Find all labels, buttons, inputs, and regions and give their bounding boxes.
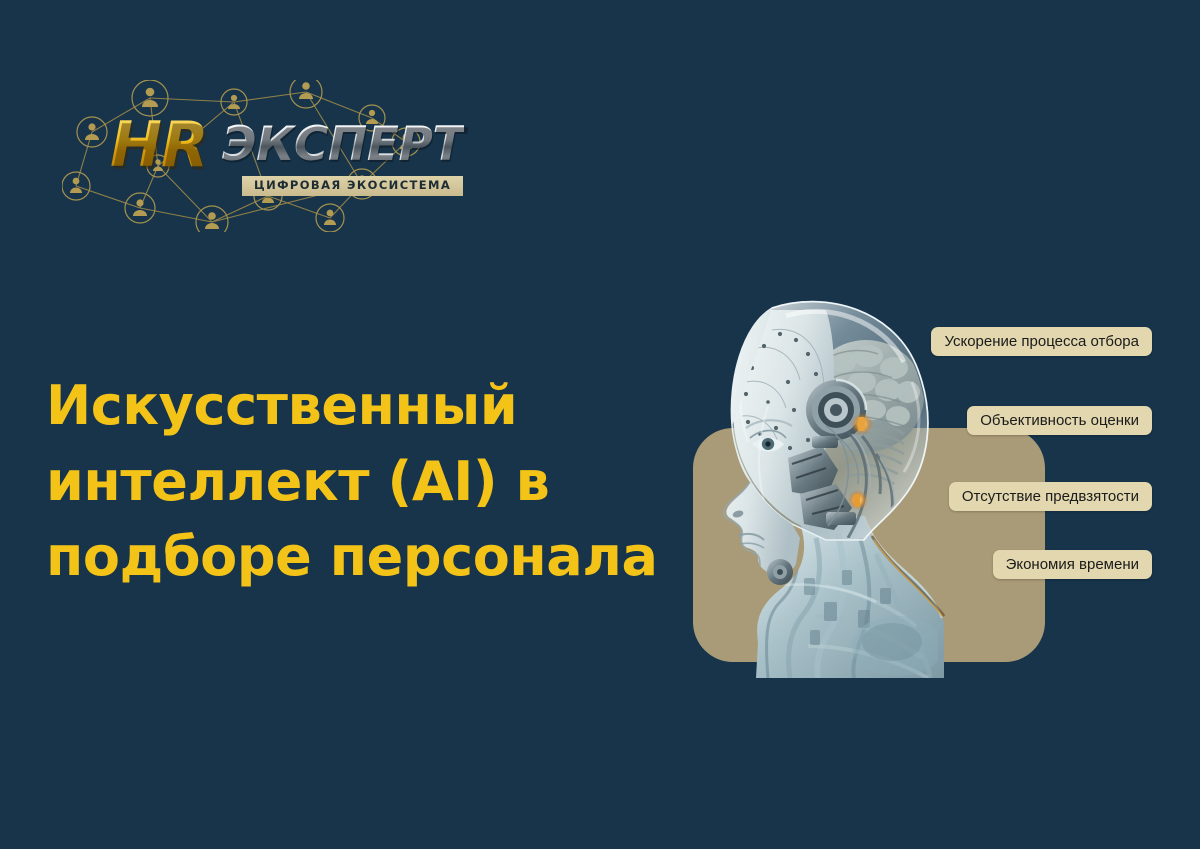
- benefit-badge-0[interactable]: Ускорение процесса отбора: [931, 327, 1152, 356]
- benefit-label: Экономия времени: [1006, 557, 1139, 572]
- benefit-badge-2[interactable]: Отсутствие предвзятости: [949, 482, 1152, 511]
- benefit-badge-3[interactable]: Экономия времени: [993, 550, 1152, 579]
- headline-line-3: подборе персонала: [46, 519, 686, 595]
- page-title: Искусственный интеллект (AI) в подборе п…: [46, 368, 686, 595]
- brand-logo[interactable]: ЭКСПЕРТ HR ЦИФРОВАЯ ЭКОСИСТЕМА: [62, 80, 442, 232]
- logo-expert-text: ЭКСПЕРТ: [222, 121, 464, 168]
- logo-tagline: ЦИФРОВАЯ ЭКОСИСТЕМА: [242, 176, 463, 196]
- benefit-label: Объективность оценки: [980, 413, 1139, 428]
- headline-line-1: Искусственный: [46, 368, 686, 444]
- benefit-badge-1[interactable]: Объективность оценки: [967, 406, 1152, 435]
- benefit-label: Ускорение процесса отбора: [944, 334, 1139, 349]
- benefit-label: Отсутствие предвзятости: [962, 489, 1139, 504]
- logo-wordmark: ЭКСПЕРТ HR ЦИФРОВАЯ ЭКОСИСТЕМА: [110, 110, 410, 205]
- slide-canvas: ЭКСПЕРТ HR ЦИФРОВАЯ ЭКОСИСТЕМА Искусстве…: [0, 0, 1200, 849]
- headline-line-2: интеллект (AI) в: [46, 444, 686, 520]
- logo-hr-text: HR: [110, 114, 208, 176]
